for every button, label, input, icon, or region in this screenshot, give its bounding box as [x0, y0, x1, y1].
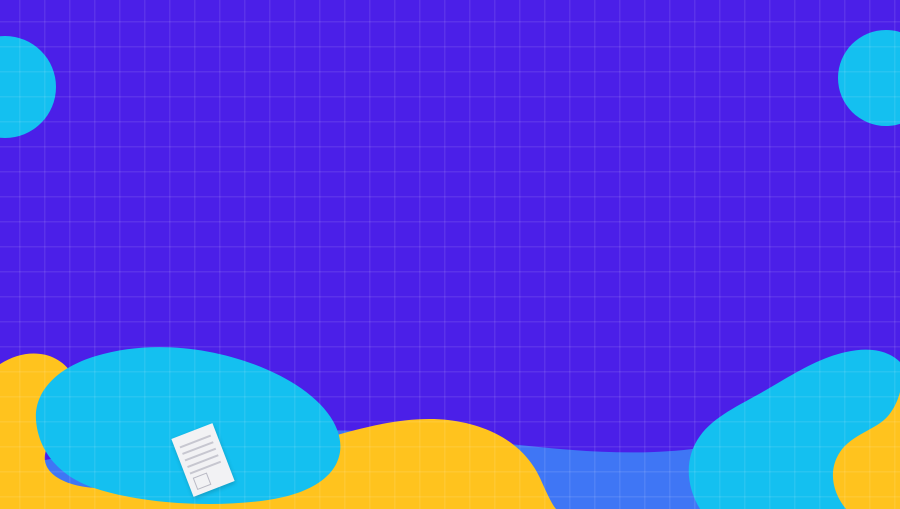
bottom-blob-decorations: [0, 0, 900, 509]
poster-canvas: 高考冲刺高考补习 1 掌握核心知识 2 强化答题技巧 3 训练解题方法: [0, 0, 900, 509]
